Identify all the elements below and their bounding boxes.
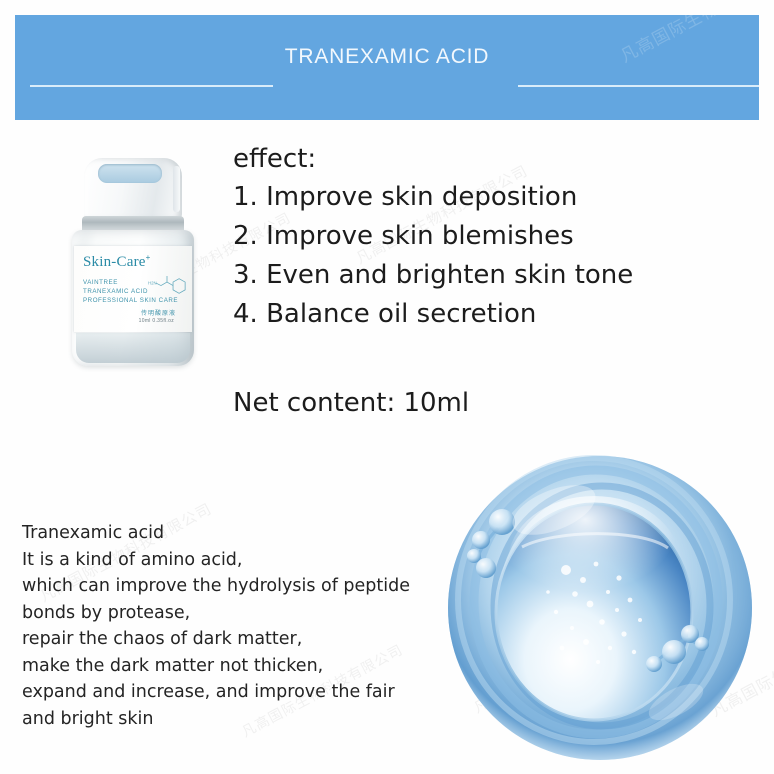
bottle-cap-hinge	[173, 166, 180, 212]
label-chinese-text: 传明酸原液	[83, 308, 184, 317]
description-line-7: expand and increase, and improve the fai…	[22, 679, 452, 706]
page-title: TRANEXAMIC ACID	[15, 45, 759, 69]
molecule-structure-icon: H2N	[148, 274, 186, 304]
effect-item-4: 4. Balance oil secretion	[233, 295, 753, 334]
description-line-5: repair the chaos of dark matter,	[22, 626, 452, 653]
bottle-liquid	[76, 333, 190, 363]
description-line-1: Tranexamic acid	[22, 520, 452, 547]
description-line-3: which can improve the hydrolysis of pept…	[22, 573, 452, 600]
effect-item-1: 1. Improve skin deposition	[233, 178, 753, 217]
banner-rule-left	[30, 85, 273, 87]
label-brand-superscript: +	[146, 253, 151, 262]
description-line-8: and bright skin	[22, 706, 452, 733]
description-line-4: bonds by protease,	[22, 600, 452, 627]
label-volume: 10ml 0.35fl.oz	[83, 318, 184, 324]
description-line-2: It is a kind of amino acid,	[22, 547, 452, 574]
water-droplet-sphere	[444, 452, 756, 764]
effect-heading: effect:	[233, 140, 753, 178]
description-section: Tranexamic acid It is a kind of amino ac…	[22, 520, 452, 732]
header-banner: 凡高国际生物科技有限公司 TRANEXAMIC ACID	[15, 15, 759, 120]
label-brand-name: Skin-Care	[83, 255, 146, 270]
net-content-text: Net content: 10ml	[233, 388, 469, 418]
bottle-cap-inset	[98, 164, 162, 183]
effect-item-3: 3. Even and brighten skin tone	[233, 256, 753, 295]
banner-rule-right	[518, 85, 759, 87]
product-bottle-image: Skin-Care+ VAINTREE TRANEXAMIC ACID PROF…	[62, 158, 204, 368]
product-marketing-page: 凡高国际生物科技有限公司 TRANEXAMIC ACID 凡高国际生物科技有限公…	[0, 0, 774, 774]
bottle-label: Skin-Care+ VAINTREE TRANEXAMIC ACID PROF…	[74, 246, 192, 332]
description-line-6: make the dark matter not thicken,	[22, 653, 452, 680]
effect-item-2: 2. Improve skin blemishes	[233, 217, 753, 256]
effect-section: effect: 1. Improve skin deposition 2. Im…	[233, 140, 753, 334]
molecule-label: H2N	[148, 281, 157, 286]
bottle-cap	[84, 158, 182, 220]
